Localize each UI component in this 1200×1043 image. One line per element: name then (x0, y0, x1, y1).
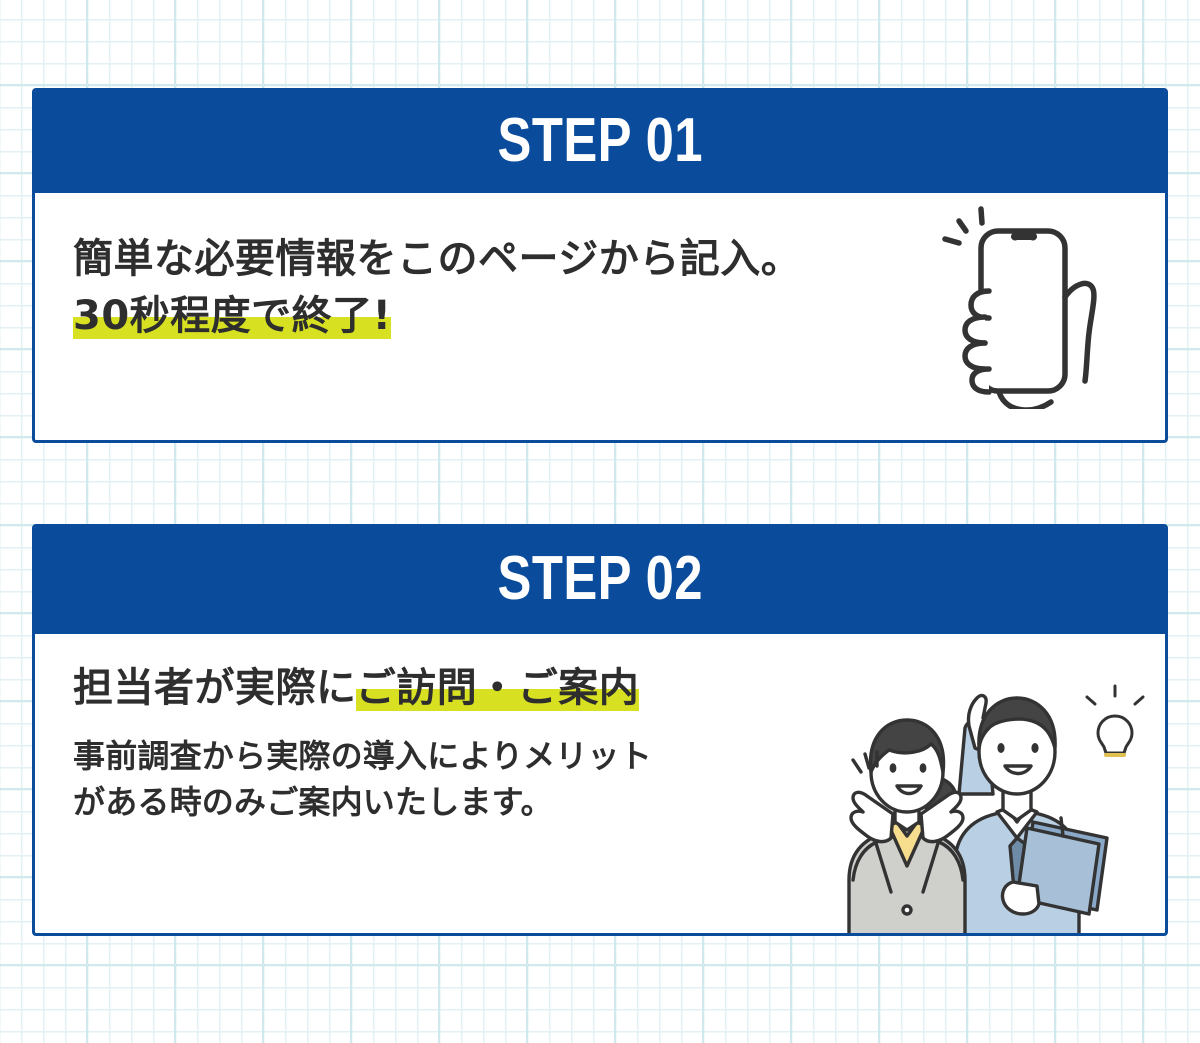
hand-holding-smartphone-icon (937, 199, 1137, 409)
step-01-line-1: 簡単な必要情報をこのページから記入。 (73, 231, 801, 288)
step-02-heading-highlighted: ご訪問・ご案内 (356, 665, 640, 711)
step-01-text-block: 簡単な必要情報をこのページから記入。 30秒程度で終了! (73, 231, 801, 345)
step-02-text-block: 担当者が実際にご訪問・ご案内 事前調査から実際の導入によりメリット がある時のみ… (73, 660, 652, 826)
step-01-header-band: STEP 01 (32, 88, 1168, 193)
step-02-sub-line-1: 事前調査から実際の導入によりメリット (73, 733, 652, 779)
two-business-people-icon (847, 668, 1147, 936)
step-02-title: STEP 02 (497, 548, 702, 610)
step-card-02: STEP 02 担当者が実際にご訪問・ご案内 事前調査から実際の導入によりメリッ… (32, 524, 1168, 936)
step-01-line-2-highlighted: 30秒程度で終了! (73, 293, 391, 339)
step-02-body: 担当者が実際にご訪問・ご案内 事前調査から実際の導入によりメリット がある時のみ… (35, 634, 1165, 930)
step-card-01: STEP 01 簡単な必要情報をこのページから記入。 30秒程度で終了! (32, 88, 1168, 443)
step-01-body: 簡単な必要情報をこのページから記入。 30秒程度で終了! (35, 193, 1165, 437)
step-02-heading: 担当者が実際にご訪問・ご案内 (73, 660, 652, 717)
step-02-heading-plain: 担当者が実際に (73, 665, 356, 711)
step-02-header-band: STEP 02 (32, 524, 1168, 634)
step-01-line-2-wrapper: 30秒程度で終了! (73, 288, 801, 345)
step-02-subtext: 事前調査から実際の導入によりメリット がある時のみご案内いたします。 (73, 733, 652, 826)
page-background: STEP 01 簡単な必要情報をこのページから記入。 30秒程度で終了! (0, 0, 1200, 1043)
step-01-title: STEP 01 (497, 110, 702, 172)
step-02-sub-line-2: がある時のみご案内いたします。 (73, 779, 652, 825)
